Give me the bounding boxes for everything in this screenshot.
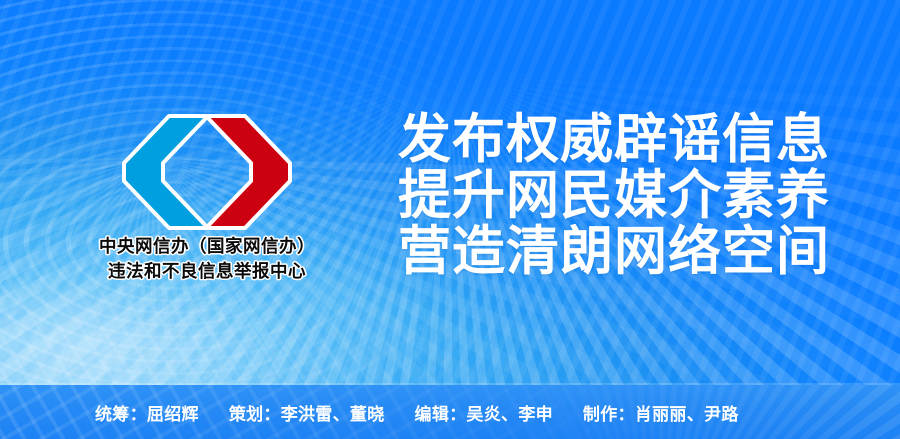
- credits-bar: 统筹：屈绍辉 策划：李洪雷、董晓 编辑：吴炎、李申 制作：肖丽丽、尹路: [0, 385, 900, 439]
- slogan-line-3: 营造清朗网络空间: [398, 224, 818, 280]
- logo-block: 中央网信办（国家网信办） 违法和不良信息举报中心: [82, 112, 332, 282]
- slogan-line-2: 提升网民媒介素养: [398, 168, 818, 224]
- slogan-block: 发布权威辟谣信息 提升网民媒介素养 营造清朗网络空间: [398, 112, 818, 280]
- slogan-line-1: 发布权威辟谣信息: [398, 112, 818, 168]
- credit-editor: 编辑：吴炎、李申: [415, 400, 553, 425]
- poster-canvas: 中央网信办（国家网信办） 违法和不良信息举报中心 发布权威辟谣信息 提升网民媒介…: [0, 0, 900, 439]
- credits-row: 统筹：屈绍辉 策划：李洪雷、董晓 编辑：吴炎、李申 制作：肖丽丽、尹路: [0, 385, 900, 439]
- logo-caption-line-1: 中央网信办（国家网信办）: [82, 236, 332, 257]
- credit-producer: 统筹：屈绍辉: [95, 400, 199, 425]
- credit-production: 制作：肖丽丽、尹路: [583, 400, 739, 425]
- logo-caption-line-2: 违法和不良信息举报中心: [82, 261, 332, 282]
- credit-planner: 策划：李洪雷、董晓: [229, 400, 385, 425]
- cac-report-center-logo-icon: [114, 112, 300, 232]
